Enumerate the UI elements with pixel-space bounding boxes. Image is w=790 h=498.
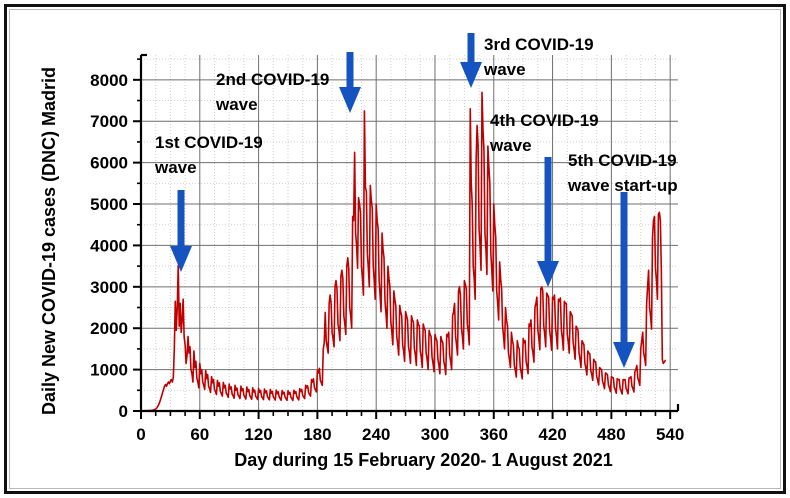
annotation-label: 2nd COVID-19 <box>216 70 329 89</box>
y-axis-tick-label: 4000 <box>90 236 128 255</box>
x-axis-tick-label: 180 <box>303 425 331 444</box>
annotation-label: wave start-up <box>567 176 678 195</box>
wave-annotations: 1st COVID-19wave2nd COVID-19wave3rd COVI… <box>154 33 678 368</box>
y-axis-tick-label: 8000 <box>90 71 128 90</box>
annotation-arrow-head <box>170 246 192 272</box>
x-axis-tick-label: 120 <box>244 425 272 444</box>
covid-daily-cases-chart: 0100020003000400050006000700080000601201… <box>0 0 790 498</box>
x-axis-tick-label: 240 <box>362 425 390 444</box>
y-axis-tick-label: 6000 <box>90 154 128 173</box>
y-axis-tick-label: 7000 <box>90 112 128 131</box>
x-axis-tick-label: 540 <box>656 425 684 444</box>
annotation-arrow-shaft <box>621 192 628 342</box>
x-axis-tick-label: 60 <box>190 425 209 444</box>
annotation-arrow-shaft <box>178 190 185 246</box>
x-axis-tick-label: 480 <box>597 425 625 444</box>
annotation-label: 4th COVID-19 <box>490 111 599 130</box>
annotation-label: 1st COVID-19 <box>155 133 263 152</box>
y-axis-tick-label: 5000 <box>90 195 128 214</box>
annotation-label: wave <box>483 60 526 79</box>
annotation-arrow-head <box>537 261 559 287</box>
annotation-arrow-head <box>613 342 635 368</box>
annotation-arrow-head <box>460 62 482 88</box>
y-axis-title: Daily New COVID-19 cases (DNC) Madrid <box>39 67 59 415</box>
x-axis-title: Day during 15 February 2020- 1 August 20… <box>234 450 612 470</box>
figure-container: 0100020003000400050006000700080000601201… <box>0 0 790 498</box>
annotation-label: 3rd COVID-19 <box>484 35 594 54</box>
x-axis-tick-label: 360 <box>480 425 508 444</box>
y-axis-tick-label: 0 <box>119 402 128 421</box>
x-axis-tick-label: 300 <box>421 425 449 444</box>
y-axis-tick-label: 3000 <box>90 278 128 297</box>
annotation-label: 5th COVID-19 <box>568 151 677 170</box>
annotation-arrow-shaft <box>347 52 354 87</box>
annotation-arrow-head <box>339 87 361 113</box>
annotation-arrow-shaft <box>468 33 475 62</box>
y-axis-tick-label: 2000 <box>90 319 128 338</box>
x-axis-tick-label: 420 <box>538 425 566 444</box>
annotation-label: wave <box>154 158 197 177</box>
annotation-label: wave <box>489 136 532 155</box>
annotation-arrow-shaft <box>545 157 552 261</box>
x-axis-tick-label: 0 <box>136 425 145 444</box>
y-axis-tick-label: 1000 <box>90 361 128 380</box>
annotation-label: wave <box>215 95 258 114</box>
